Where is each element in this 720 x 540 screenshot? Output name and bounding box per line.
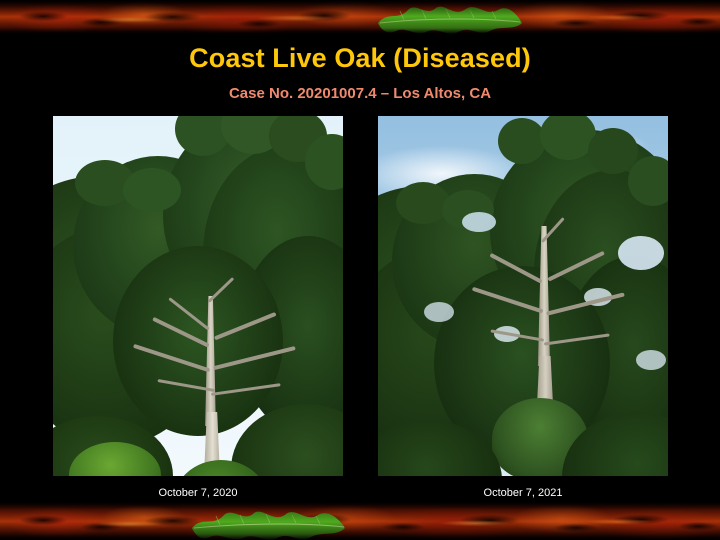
slide-canvas: Coast Live Oak (Diseased) Case No. 20201…	[0, 0, 720, 540]
photo-october-2020[interactable]	[53, 116, 343, 476]
sky-gap	[462, 212, 496, 232]
sky-gap	[636, 350, 666, 370]
slide-title: Coast Live Oak (Diseased)	[0, 43, 720, 73]
crown-tuft	[396, 182, 450, 224]
sky-gap	[618, 236, 664, 270]
crown-tuft	[588, 128, 638, 174]
slide-subtitle: Case No. 20201007.4 – Los Altos, CA	[0, 85, 720, 103]
leaf-band-vignette	[0, 0, 720, 34]
crown-tuft	[498, 118, 546, 164]
sky-gap	[424, 302, 454, 322]
top-decorative-border	[0, 0, 720, 34]
leaf-band-vignette	[0, 502, 720, 540]
crown-tuft	[123, 168, 181, 212]
bottom-decorative-border	[0, 502, 720, 540]
caption-photo-right: October 7, 2021	[378, 486, 668, 500]
photo-october-2021[interactable]	[378, 116, 668, 476]
caption-photo-left: October 7, 2020	[53, 486, 343, 500]
